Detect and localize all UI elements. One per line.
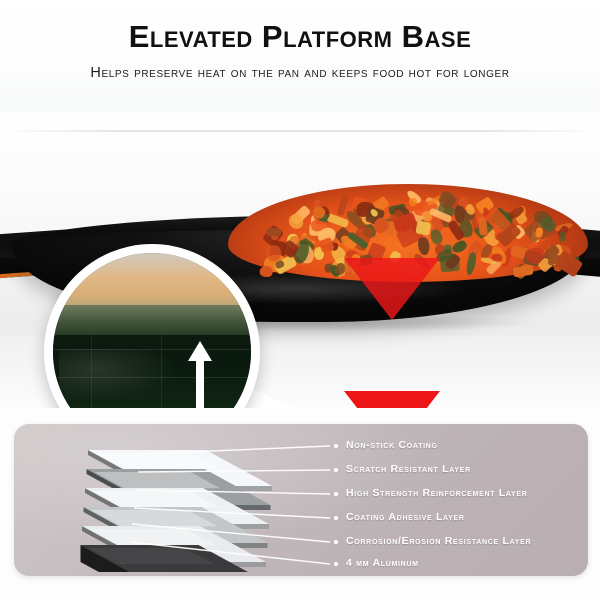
page-subtitle: Helps preserve heat on the pan and keeps… xyxy=(0,66,600,81)
food-piece xyxy=(415,221,431,236)
header-band: Elevated Platform Base Helps preserve he… xyxy=(0,0,600,112)
layer-label: Non-stick Coating xyxy=(346,439,438,451)
magnified-pan-base-closeup xyxy=(44,244,260,408)
double-headed-height-arrow xyxy=(183,341,217,408)
page-title: Elevated Platform Base xyxy=(0,21,600,52)
backdrop-horizon-line xyxy=(0,130,600,132)
red-triangle-up xyxy=(344,258,440,320)
layer-label: Coating Adhesive Layer xyxy=(346,511,465,523)
red-triangle-down xyxy=(344,391,440,408)
product-feature-graphic: Elevated Platform Base Helps preserve he… xyxy=(0,0,600,600)
layer-label: 4 mm Aluminum xyxy=(346,557,419,569)
coating-layers-panel: Non-stick CoatingScratch Resistant Layer… xyxy=(14,424,588,576)
food-piece xyxy=(266,228,281,236)
magnifier-lens-content xyxy=(53,253,251,408)
layer-label: Scratch Resistant Layer xyxy=(346,463,471,475)
product-photo-scene xyxy=(0,108,600,408)
food-piece xyxy=(491,253,503,262)
food-piece xyxy=(558,230,566,242)
closeup-pan-top-edge xyxy=(53,305,251,339)
layer-label-list: Non-stick CoatingScratch Resistant Layer… xyxy=(14,424,588,576)
food-piece xyxy=(260,266,273,277)
closeup-gloss xyxy=(59,349,179,401)
layer-label: Corrosion/Erosion Resistance Layer xyxy=(346,535,531,547)
layer-label: High Strength Reinforcement Layer xyxy=(346,487,528,499)
